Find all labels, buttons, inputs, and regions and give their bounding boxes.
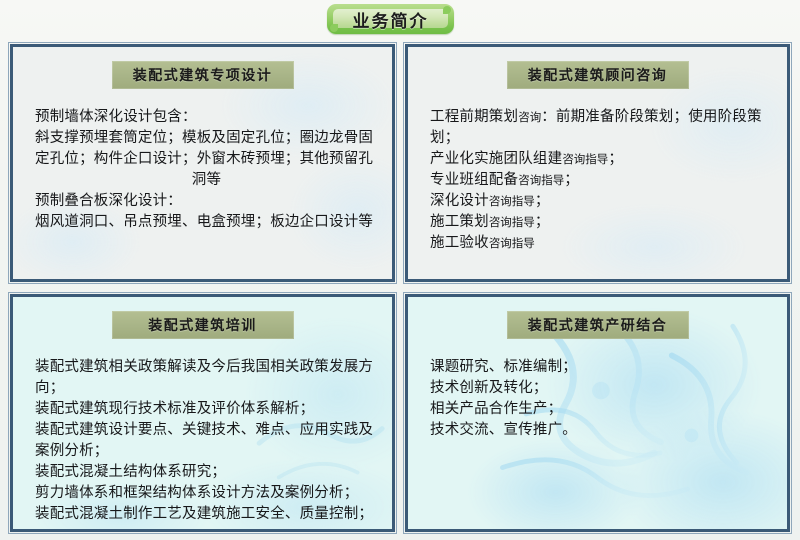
panel-consulting-body: 工程前期策划咨询：前期准备阶段策划；使用阶段策划；产业化实施团队组建咨询指导；专… <box>430 107 773 254</box>
body-line: 向； <box>35 378 378 399</box>
panel-research-label: 装配式建筑产研结合 <box>507 311 689 339</box>
panel-consulting-label: 装配式建筑顾问咨询 <box>507 61 689 89</box>
body-run: ； <box>608 151 623 167</box>
body-run-small: 咨询指导 <box>489 236 535 250</box>
body-line: 装配式建筑设计要点、关键技术、难点、应用实践及 <box>35 420 378 441</box>
body-run: 装配式建筑现行技术标准及评价体系解析； <box>35 401 314 417</box>
body-line: 装配式混凝土结构体系研究； <box>35 462 378 483</box>
body-run: 预制叠合板深化设计： <box>35 193 182 209</box>
body-line: 课题研究、标准编制； <box>430 357 773 378</box>
body-run-small: 咨询指导 <box>489 194 535 208</box>
body-line: 斜支撑预埋套筒定位；模板及固定孔位；圈边龙骨固 <box>35 128 378 149</box>
body-run: 斜支撑预埋套筒定位；模板及固定孔位；圈边龙骨固 <box>35 130 373 146</box>
panel-research-body: 课题研究、标准编制；技术创新及转化；相关产品合作生产；技术交流、宣传推广。 <box>430 357 773 441</box>
panel-training-label: 装配式建筑培训 <box>112 311 294 339</box>
body-line: 剪力墙体系和框架结构体系设计方法及案例分析； <box>35 483 378 504</box>
title-banner-area: 业务简介 <box>0 0 800 38</box>
body-line: 定孔位；构件企口设计；外窗木砖预埋；其他预留孔 <box>35 149 378 170</box>
panel-consulting-label-text: 装配式建筑顾问咨询 <box>528 65 668 85</box>
body-run: 装配式建筑相关政策解读及今后我国相关政策发展方 <box>35 359 373 375</box>
page-title: 业务简介 <box>327 4 454 34</box>
body-run: 技术交流、宣传推广。 <box>430 422 577 438</box>
body-run: 课题研究、标准编制； <box>430 359 577 375</box>
body-run: 装配式建筑设计要点、关键技术、难点、应用实践及 <box>35 422 373 438</box>
body-run: 施工验收 <box>430 235 489 251</box>
panel-research-label-text: 装配式建筑产研结合 <box>528 315 668 335</box>
panel-design-label: 装配式建筑专项设计 <box>112 61 294 89</box>
panel-grid: 装配式建筑专项设计 预制墙体深化设计包含：斜支撑预埋套筒定位；模板及固定孔位；圈… <box>10 44 790 532</box>
body-line: 烟风道洞口、吊点预埋、电盒预埋；板边企口设计等 <box>35 212 378 233</box>
body-run-small: 咨询指导 <box>518 173 564 187</box>
body-run: 剪力墙体系和框架结构体系设计方法及案例分析； <box>35 485 358 501</box>
body-run-small: 咨询指导 <box>489 215 535 229</box>
body-line: 产业化实施团队组建咨询指导； <box>430 149 773 170</box>
body-run: 专业班组配备 <box>430 172 518 188</box>
body-line: 工程前期策划咨询：前期准备阶段策划；使用阶段策 <box>430 107 773 128</box>
body-line: 专业班组配备咨询指导； <box>430 170 773 191</box>
body-line: 技术交流、宣传推广。 <box>430 420 773 441</box>
panel-consulting: 装配式建筑顾问咨询 工程前期策划咨询：前期准备阶段策划；使用阶段策划；产业化实施… <box>405 44 790 282</box>
body-run: 产业化实施团队组建 <box>430 151 562 167</box>
body-run: 技术创新及转化； <box>430 380 548 396</box>
body-run: 装配式混凝土制作工艺及建筑施工安全、质量控制； <box>35 506 373 522</box>
body-line: 装配式建筑现行技术标准及评价体系解析； <box>35 399 378 420</box>
body-line: 技术创新及转化； <box>430 378 773 399</box>
body-line: 施工策划咨询指导； <box>430 212 773 233</box>
body-line: 装配式混凝土制作工艺及建筑施工安全、质量控制； <box>35 504 378 525</box>
body-run: 案例分析； <box>35 443 109 459</box>
panel-training: 装配式建筑培训 装配式建筑相关政策解读及今后我国相关政策发展方向；装配式建筑现行… <box>10 294 395 532</box>
body-run: ； <box>535 214 550 230</box>
body-run: 划； <box>430 130 459 146</box>
body-run: 定孔位；构件企口设计；外窗木砖预埋；其他预留孔 <box>35 151 373 167</box>
body-run: ； <box>564 172 579 188</box>
body-run: 工程前期策划 <box>430 109 518 125</box>
body-line: 深化设计咨询指导； <box>430 191 773 212</box>
body-run: 相关产品合作生产； <box>430 401 562 417</box>
page-background: 业务简介 装配式建筑专项设计 <box>0 0 800 540</box>
body-run: 施工策划 <box>430 214 489 230</box>
body-run-small: 咨询指导 <box>562 152 608 166</box>
panel-training-label-text: 装配式建筑培训 <box>148 315 257 335</box>
body-line: 预制叠合板深化设计： <box>35 191 378 212</box>
body-line: 案例分析； <box>35 441 378 462</box>
body-run: 向； <box>35 380 64 396</box>
body-line: 划； <box>430 128 773 149</box>
body-run: 洞等 <box>192 172 221 188</box>
body-run: ：前期准备阶段策划；使用阶段策 <box>541 109 762 125</box>
panel-research: 装配式建筑产研结合 课题研究、标准编制；技术创新及转化；相关产品合作生产；技术交… <box>405 294 790 532</box>
body-run: 深化设计 <box>430 193 489 209</box>
body-run-small: 咨询 <box>518 110 541 124</box>
body-line: 施工验收咨询指导 <box>430 233 773 254</box>
body-line: 相关产品合作生产； <box>430 399 773 420</box>
body-run: 烟风道洞口、吊点预埋、电盒预埋；板边企口设计等 <box>35 214 373 230</box>
title-banner: 业务简介 <box>327 4 454 34</box>
panel-design-body: 预制墙体深化设计包含：斜支撑预埋套筒定位；模板及固定孔位；圈边龙骨固定孔位；构件… <box>35 107 378 233</box>
panel-design: 装配式建筑专项设计 预制墙体深化设计包含：斜支撑预埋套筒定位；模板及固定孔位；圈… <box>10 44 395 282</box>
body-line: 装配式建筑相关政策解读及今后我国相关政策发展方 <box>35 357 378 378</box>
panel-training-body: 装配式建筑相关政策解读及今后我国相关政策发展方向；装配式建筑现行技术标准及评价体… <box>35 357 378 525</box>
body-run: ； <box>535 193 550 209</box>
body-run: 装配式混凝土结构体系研究； <box>35 464 226 480</box>
panel-design-label-text: 装配式建筑专项设计 <box>133 65 273 85</box>
body-line: 预制墙体深化设计包含： <box>35 107 378 128</box>
body-run: 预制墙体深化设计包含： <box>35 109 197 125</box>
body-line: 洞等 <box>35 170 378 191</box>
